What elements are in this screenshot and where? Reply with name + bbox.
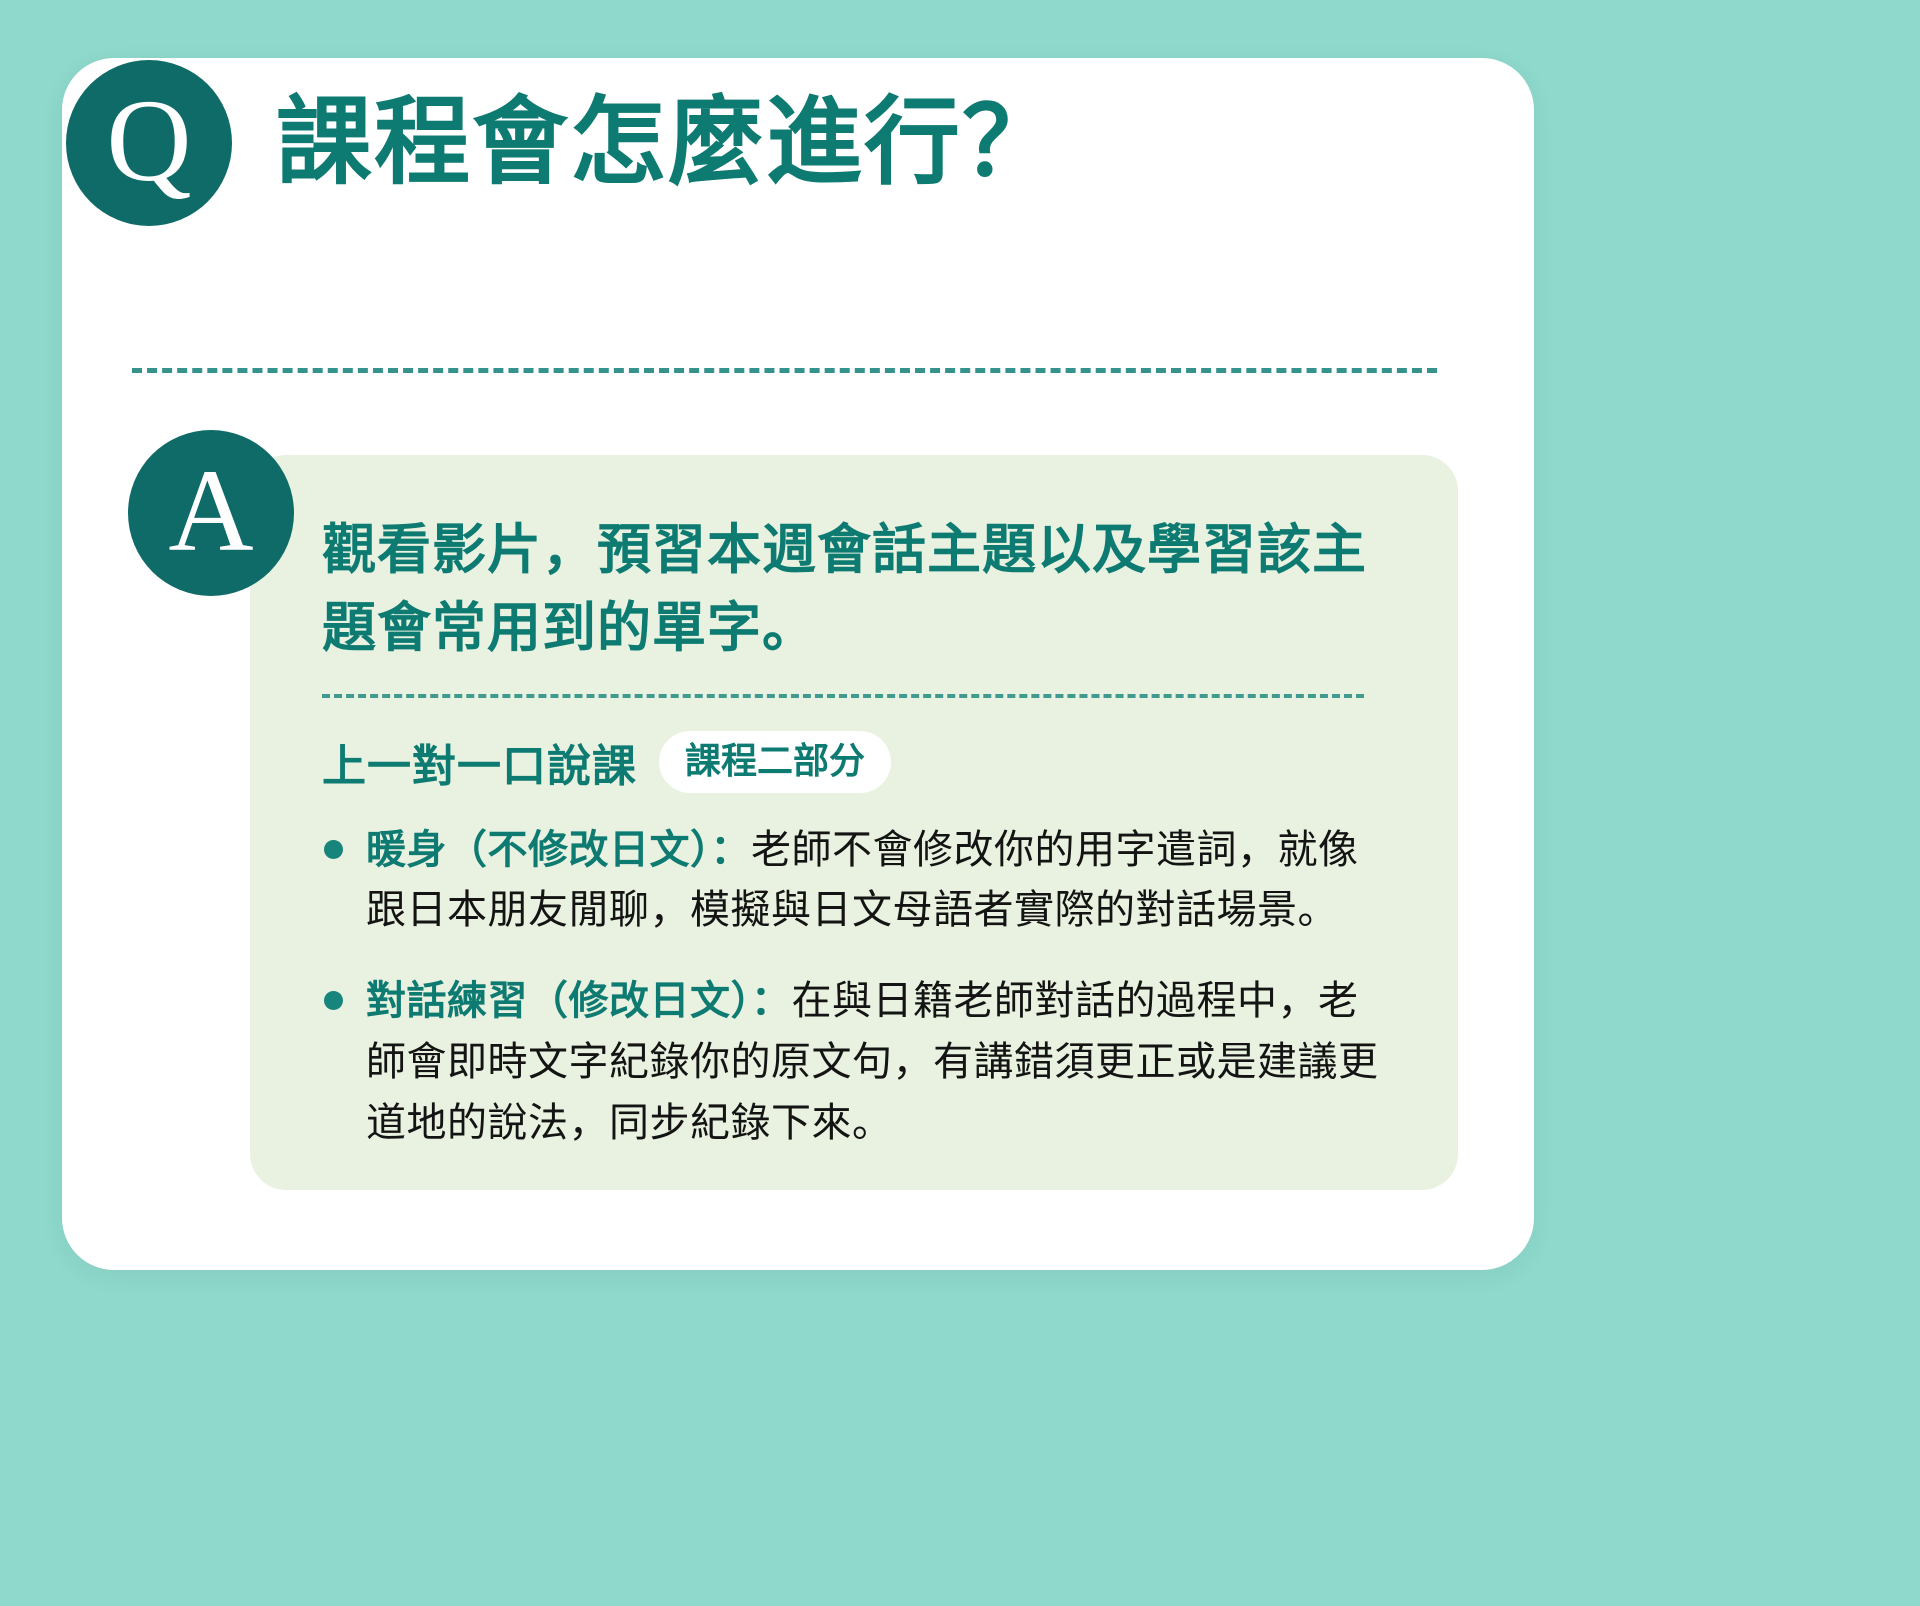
question-badge: Q	[66, 60, 232, 226]
answer-lead-text: 觀看影片，預習本週會話主題以及學習該主題會常用到的單字。	[322, 511, 1382, 668]
question-title: 課程會怎麼進行？	[276, 93, 1060, 194]
question-row: Q 課程會怎麼進行？	[66, 60, 1060, 226]
bullet-list: 暖身（不修改日文）：老師不會修改你的用字遣詞，就像跟日本朋友閒聊，模擬與日文母語…	[322, 820, 1392, 1154]
answer-badge-letter: A	[168, 452, 253, 570]
section-heading: 上一對一口說課 課程二部分	[322, 730, 1392, 794]
section-heading-label: 上一對一口說課	[322, 730, 637, 794]
bullet-dot-icon	[324, 840, 343, 859]
question-badge-letter: Q	[106, 82, 191, 200]
section-heading-badge: 課程二部分	[659, 731, 891, 793]
answer-block: A 觀看影片，預習本週會話主題以及學習該主題會常用到的單字。 上一對一口說課 課…	[128, 430, 1458, 1190]
list-item: 暖身（不修改日文）：老師不會修改你的用字遣詞，就像跟日本朋友閒聊，模擬與日文母語…	[322, 820, 1392, 942]
answer-inner-divider	[322, 694, 1364, 698]
answer-badge: A	[128, 430, 294, 596]
answer-panel: 觀看影片，預習本週會話主題以及學習該主題會常用到的單字。 上一對一口說課 課程二…	[250, 455, 1458, 1190]
bullet-lead: 對話練習（修改日文）：	[366, 979, 792, 1023]
list-item: 對話練習（修改日文）：在與日籍老師對話的過程中，老師會即時文字紀錄你的原文句，有…	[322, 971, 1392, 1153]
question-answer-divider	[132, 368, 1437, 373]
bullet-lead: 暖身（不修改日文）：	[366, 828, 751, 872]
faq-card-page: Q 課程會怎麼進行？ A 觀看影片，預習本週會話主題以及學習該主題會常用到的單字…	[0, 0, 1920, 1606]
bullet-dot-icon	[324, 991, 343, 1010]
